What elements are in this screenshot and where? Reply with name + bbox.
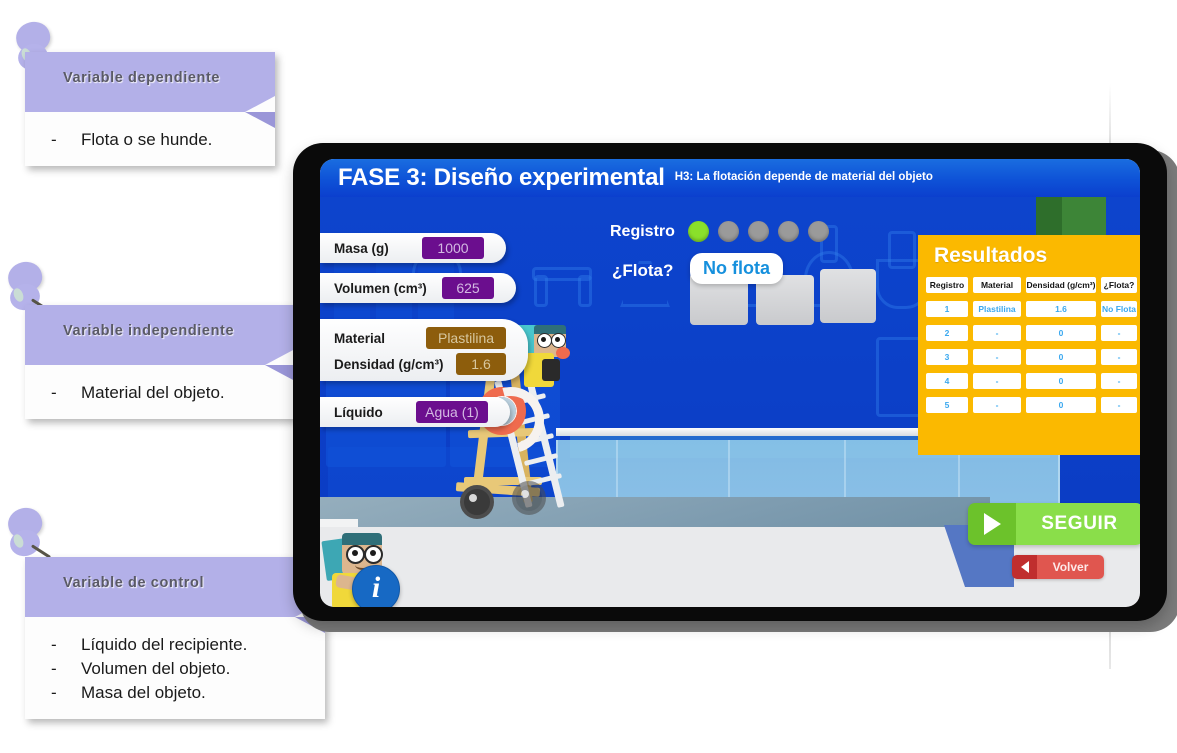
flota-answer-tooltip: No flota <box>690 253 783 284</box>
tablet-device: FASE 3: Diseño experimental H3: La flota… <box>293 143 1167 621</box>
note-card-independiente: Variable independiente - Material del ob… <box>25 305 295 419</box>
param-row-masa[interactable]: Masa (g) 1000 <box>320 233 506 263</box>
param-label-material: Material <box>320 331 385 346</box>
registro-label: Registro <box>610 223 675 241</box>
cell-material: - <box>973 397 1021 413</box>
note-item-text: Masa del objeto. <box>81 681 206 705</box>
cell-material: Plastilina <box>973 301 1021 317</box>
lab-wall-panel <box>320 519 358 527</box>
results-col-registro: Registro <box>926 277 968 293</box>
note-item-text: Material del objeto. <box>81 381 225 405</box>
cell-material: - <box>973 373 1021 389</box>
table-row: 2 - 0 - <box>926 325 1132 341</box>
bullet-dash: - <box>45 128 81 152</box>
table-row: 4 - 0 - <box>926 373 1132 389</box>
results-table: Registro Material Densidad (g/cm³) ¿Flot… <box>926 277 1132 421</box>
bullet-dash: - <box>45 633 81 657</box>
chair-wheel-back <box>512 481 546 515</box>
note-item: - Flota o se hunde. <box>45 128 265 152</box>
sample-box-3[interactable] <box>820 269 876 323</box>
param-row-material-densidad[interactable]: Material Plastilina Densidad (g/cm³) 1.6 <box>320 319 528 381</box>
cell-densidad: 1.6 <box>1026 301 1096 317</box>
results-panel: Resultados Registro Material Densidad (g… <box>918 235 1140 455</box>
lab-bench <box>320 497 990 527</box>
param-row-volumen[interactable]: Volumen (cm³) 625 <box>320 273 516 303</box>
note-title-1: Variable dependiente <box>63 70 220 86</box>
table-row: 1 Plastilina 1.6 No Flota <box>926 301 1132 317</box>
results-col-material: Material <box>973 277 1021 293</box>
note-item: - Material del objeto. <box>45 381 285 405</box>
play-icon <box>968 503 1016 545</box>
note-title-2: Variable independiente <box>63 323 234 339</box>
cell-registro: 3 <box>926 349 968 365</box>
simulation-app: FASE 3: Diseño experimental H3: La flota… <box>320 159 1140 607</box>
chair-wheel <box>460 485 494 519</box>
results-col-densidad: Densidad (g/cm³) <box>1026 277 1096 293</box>
info-helper-avatar[interactable]: i <box>324 533 398 607</box>
note-header-3: Variable de control <box>25 557 325 617</box>
volver-button[interactable]: Volver <box>1012 555 1104 579</box>
registro-indicator: Registro <box>610 221 829 242</box>
note-header-2: Variable independiente <box>25 305 295 365</box>
seguir-button[interactable]: SEGUIR <box>968 503 1140 545</box>
note-item-text: Flota o se hunde. <box>81 128 212 152</box>
cell-densidad: 0 <box>1026 373 1096 389</box>
note-item: - Masa del objeto. <box>45 681 315 705</box>
bullet-dash: - <box>45 681 81 705</box>
cell-densidad: 0 <box>1026 349 1096 365</box>
info-icon-glyph: i <box>372 573 380 603</box>
bullet-dash: - <box>45 381 81 405</box>
cell-registro: 4 <box>926 373 968 389</box>
cell-flota: - <box>1101 397 1137 413</box>
tablet-screen: FASE 3: Diseño experimental H3: La flota… <box>320 159 1140 607</box>
cell-flota: - <box>1101 373 1137 389</box>
param-label-densidad: Densidad (g/cm³) <box>320 357 444 372</box>
cell-densidad: 0 <box>1026 325 1096 341</box>
registro-dot-2[interactable] <box>718 221 739 242</box>
param-value-densidad[interactable]: 1.6 <box>456 353 506 375</box>
note-title-3: Variable de control <box>63 575 204 591</box>
registro-dot-3[interactable] <box>748 221 769 242</box>
results-header-row: Registro Material Densidad (g/cm³) ¿Flot… <box>926 277 1132 293</box>
registro-dot-4[interactable] <box>778 221 799 242</box>
cell-densidad: 0 <box>1026 397 1096 413</box>
note-item-text: Volumen del objeto. <box>81 657 230 681</box>
note-body-2: - Material del objeto. <box>25 365 295 419</box>
cell-material: - <box>973 325 1021 341</box>
lab-scene: Registro ¿Flota? No flota <box>320 197 1140 527</box>
registro-dot-5[interactable] <box>808 221 829 242</box>
app-title: FASE 3: Diseño experimental <box>338 164 665 192</box>
volver-button-label: Volver <box>1037 555 1104 579</box>
param-value-material[interactable]: Plastilina <box>426 327 506 349</box>
param-row-liquido[interactable]: Líquido Agua (1) <box>320 397 510 427</box>
app-subtitle: H3: La flotación depende de material del… <box>675 171 933 185</box>
info-icon[interactable]: i <box>352 565 400 607</box>
seguir-button-label: SEGUIR <box>1016 503 1140 545</box>
note-body-3: - Líquido del recipiente. - Volumen del … <box>25 617 325 719</box>
param-value-volumen[interactable]: 625 <box>442 277 494 299</box>
param-label-liquido: Líquido <box>320 405 383 420</box>
cell-material: - <box>973 349 1021 365</box>
cell-registro: 5 <box>926 397 968 413</box>
flota-question-label: ¿Flota? <box>612 261 673 281</box>
note-body-1: - Flota o se hunde. <box>25 112 275 166</box>
param-label-volumen: Volumen (cm³) <box>320 281 427 296</box>
cell-registro: 1 <box>926 301 968 317</box>
param-value-masa[interactable]: 1000 <box>422 237 484 259</box>
table-row: 5 - 0 - <box>926 397 1132 413</box>
note-item: - Líquido del recipiente. <box>45 633 315 657</box>
note-item-text: Líquido del recipiente. <box>81 633 247 657</box>
cell-flota: No Flota <box>1101 301 1137 317</box>
table-row: 3 - 0 - <box>926 349 1132 365</box>
note-card-dependiente: Variable dependiente - Flota o se hunde. <box>25 52 275 166</box>
cell-registro: 2 <box>926 325 968 341</box>
note-card-control: Variable de control - Líquido del recipi… <box>25 557 325 719</box>
results-col-flota: ¿Flota? <box>1101 277 1137 293</box>
page-root: Variable dependiente - Flota o se hunde.… <box>0 0 1177 753</box>
note-header-1: Variable dependiente <box>25 52 275 112</box>
back-arrow-icon <box>1012 555 1037 579</box>
results-title: Resultados <box>934 244 1047 268</box>
cell-flota: - <box>1101 325 1137 341</box>
param-value-liquido[interactable]: Agua (1) <box>416 401 488 423</box>
registro-dot-1[interactable] <box>688 221 709 242</box>
param-label-masa: Masa (g) <box>320 241 389 256</box>
note-item: - Volumen del objeto. <box>45 657 315 681</box>
bullet-dash: - <box>45 657 81 681</box>
cell-flota: - <box>1101 349 1137 365</box>
app-title-bar: FASE 3: Diseño experimental H3: La flota… <box>320 159 1140 197</box>
